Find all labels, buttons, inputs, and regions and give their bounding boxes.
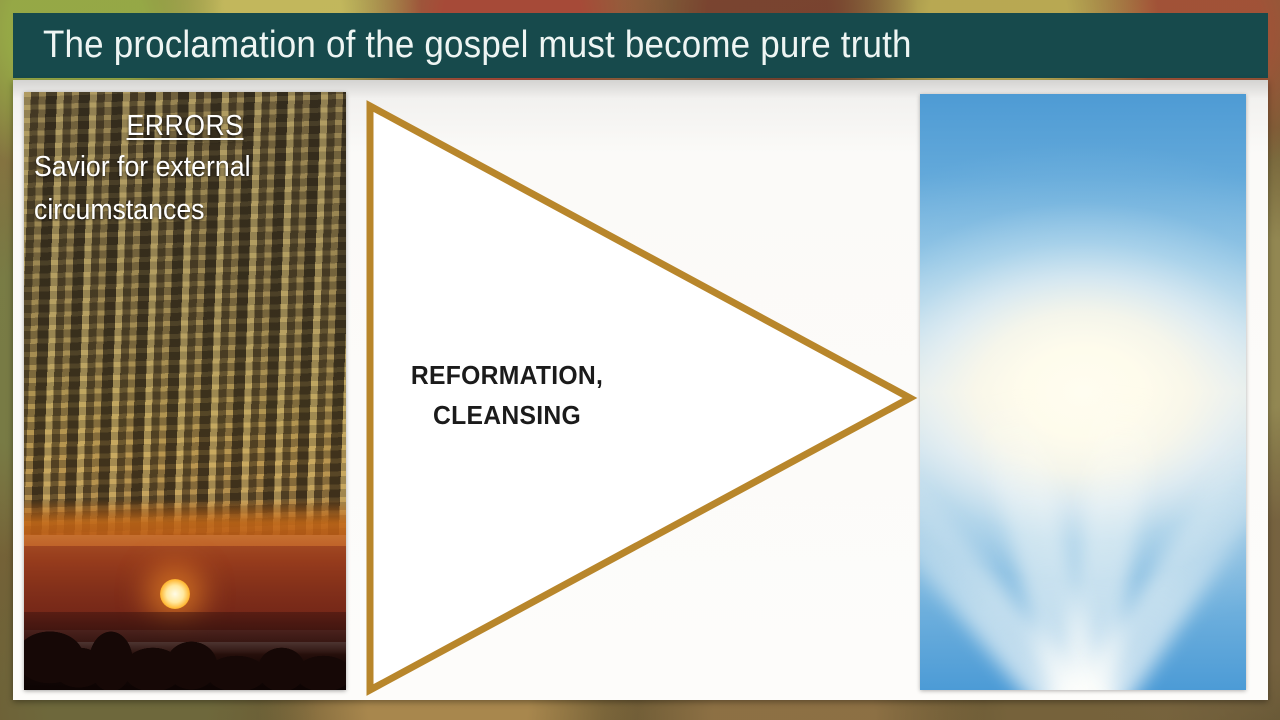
slide-backdrop: The proclamation of the gospel must beco… [0, 0, 1280, 720]
arrow-label: REFORMATION, CLEANSING [398, 355, 617, 436]
tree-silhouette-layer [24, 588, 346, 690]
errors-image-panel: ERRORS Savior for external circumstances [24, 92, 346, 690]
page-title: The proclamation of the gospel must beco… [43, 24, 912, 67]
truth-image-panel [920, 94, 1246, 690]
errors-caption: ERRORS Savior for external circumstances [24, 110, 346, 231]
errors-body-text: Savior for external circumstances [34, 146, 312, 231]
slide-title-bar: The proclamation of the gospel must beco… [13, 13, 1268, 78]
errors-heading: ERRORS [46, 110, 324, 143]
